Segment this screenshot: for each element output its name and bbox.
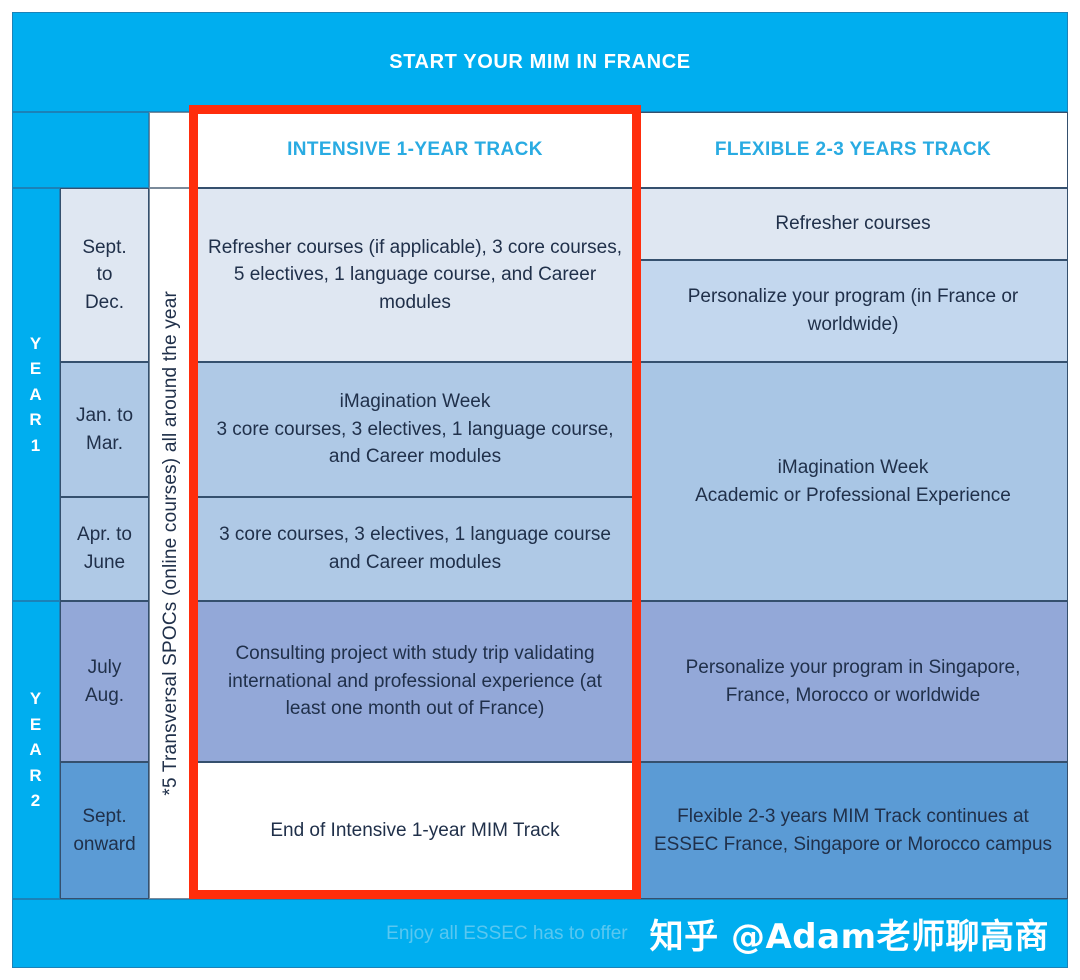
- month-cell-sept-dec: Sept. to Dec.: [60, 188, 149, 362]
- month-cell-jan-mar: Jan. to Mar.: [60, 362, 149, 497]
- column-header-flexible-track: FLEXIBLE 2-3 YEARS TRACK: [638, 112, 1068, 188]
- intensive-cell-sept-onward: End of Intensive 1-year MIM Track: [192, 762, 638, 899]
- spoc-note-text: *5 Transversal SPOCs (online courses) al…: [160, 291, 182, 796]
- year-number: 2: [31, 788, 41, 814]
- year-label-2: Y E A R 2: [12, 601, 60, 899]
- year-letter: A: [29, 737, 42, 763]
- month-cell-sept-onward: Sept. onward: [60, 762, 149, 899]
- column-header-intensive-track: INTENSIVE 1-YEAR TRACK: [192, 112, 638, 188]
- flexible-cell-continues: Flexible 2-3 years MIM Track continues a…: [638, 762, 1068, 899]
- footer-bar: Enjoy all ESSEC has to offer 知乎 @Adam老师聊…: [12, 899, 1068, 968]
- footer-tagline: Enjoy all ESSEC has to offer: [386, 923, 628, 945]
- month-cell-apr-june: Apr. to June: [60, 497, 149, 601]
- flexible-cell-personalize-singapore: Personalize your program in Singapore, F…: [638, 601, 1068, 762]
- flexible-cell-imagination-week: iMagination Week Academic or Professiona…: [638, 362, 1068, 601]
- flexible-cell-personalize-france: Personalize your program (in France or w…: [638, 260, 1068, 362]
- year-letter: A: [29, 382, 42, 408]
- header-blank-spoc: [149, 112, 192, 188]
- page-title: START YOUR MIM IN FRANCE: [12, 12, 1068, 112]
- year-letter: R: [29, 763, 42, 789]
- month-cell-july-aug: July Aug.: [60, 601, 149, 762]
- infographic-root: START YOUR MIM IN FRANCE INTENSIVE 1-YEA…: [0, 0, 1080, 980]
- year-letter: R: [29, 407, 42, 433]
- year-label-1: Y E A R 1: [12, 188, 60, 601]
- intensive-cell-jan-mar: iMagination Week 3 core courses, 3 elect…: [192, 362, 638, 497]
- year-letter: E: [30, 712, 42, 738]
- year-letter: E: [30, 356, 42, 382]
- intensive-cell-apr-june: 3 core courses, 3 electives, 1 language …: [192, 497, 638, 601]
- year-letter: Y: [30, 331, 42, 357]
- header-blank-year-month: [12, 112, 149, 188]
- year-number: 1: [31, 433, 41, 459]
- spoc-note-strip: *5 Transversal SPOCs (online courses) al…: [149, 188, 192, 899]
- watermark-text: 知乎 @Adam老师聊高商: [650, 909, 1049, 958]
- flexible-cell-refresher: Refresher courses: [638, 188, 1068, 260]
- year-letter: Y: [30, 686, 42, 712]
- intensive-cell-sept-dec: Refresher courses (if applicable), 3 cor…: [192, 188, 638, 362]
- intensive-cell-july-aug: Consulting project with study trip valid…: [192, 601, 638, 762]
